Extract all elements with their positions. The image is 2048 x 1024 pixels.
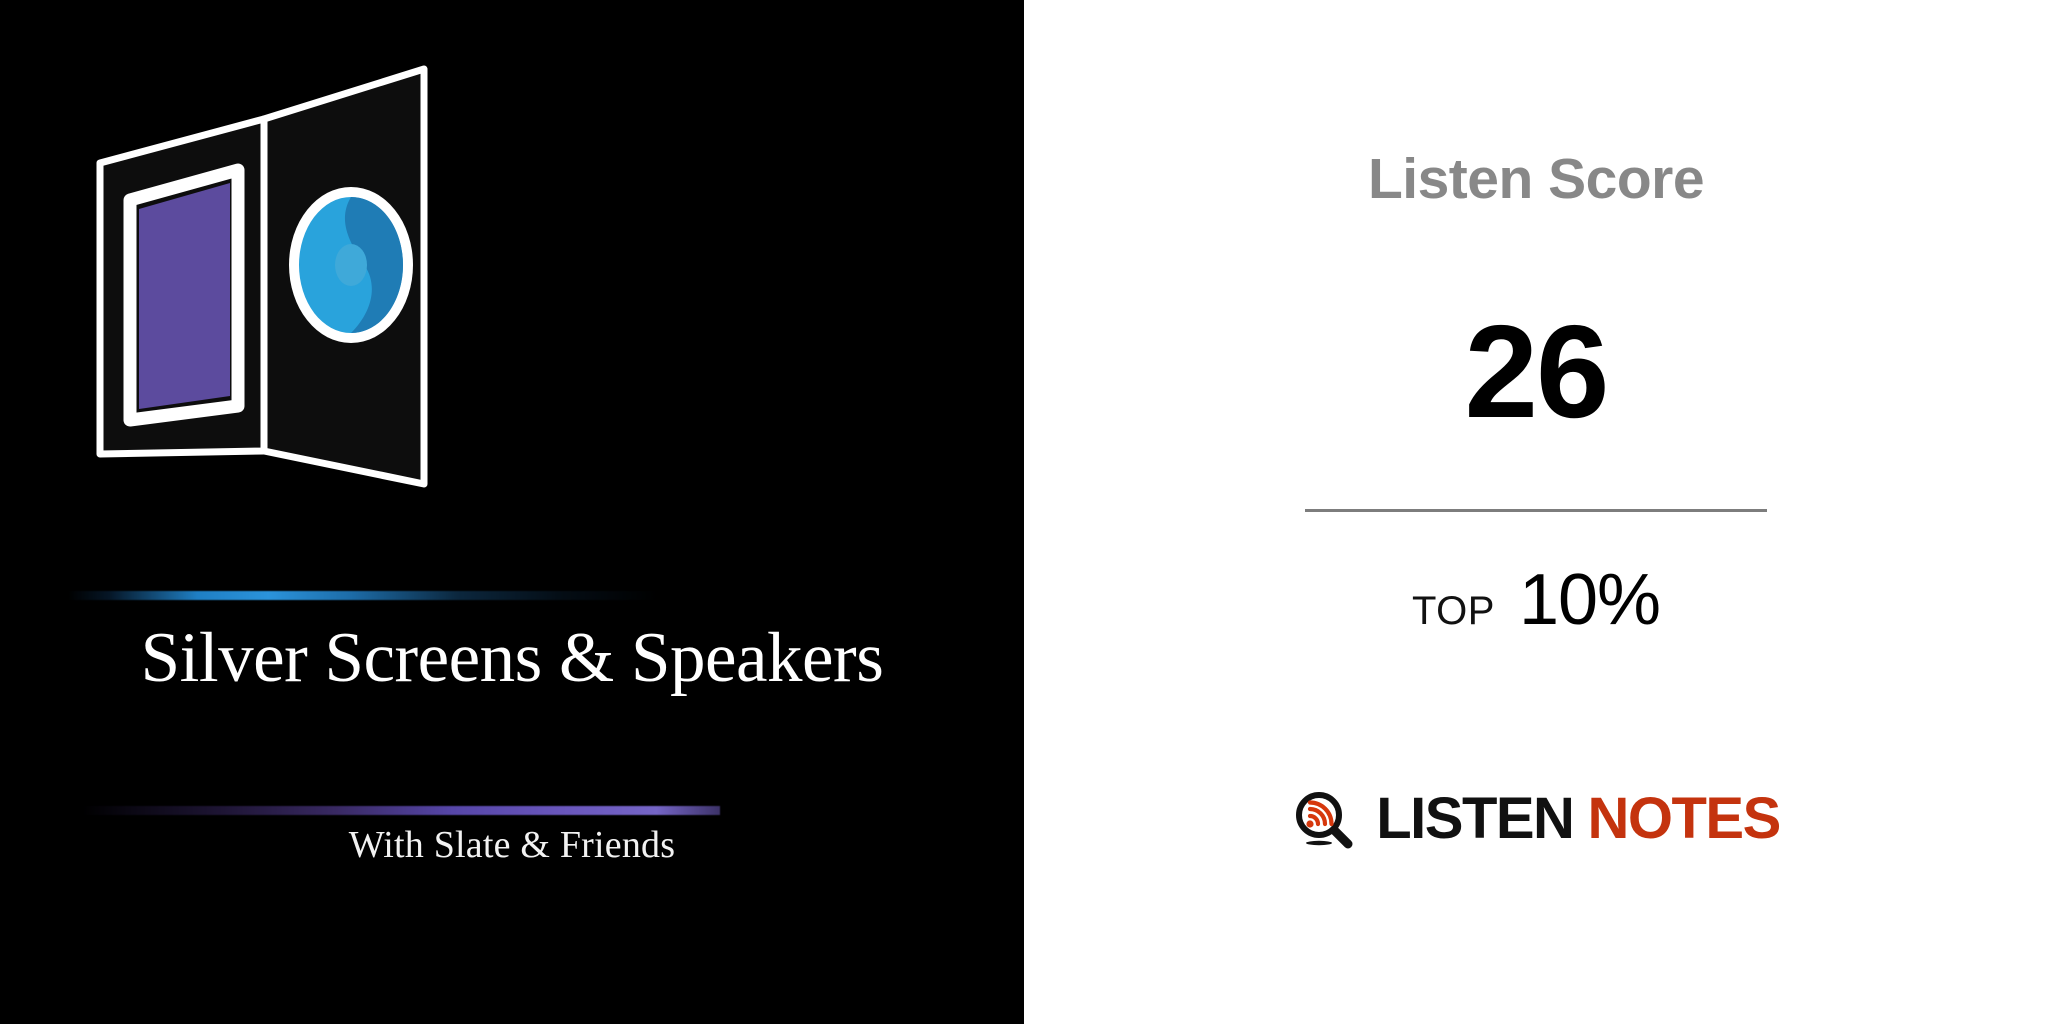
rank-percentile-value: 10%	[1519, 564, 1660, 636]
listen-notes-logo[interactable]: LISTENNOTES	[1024, 788, 2048, 850]
wordmark-listen: LISTEN	[1376, 786, 1573, 851]
listen-notes-wordmark: LISTENNOTES	[1376, 790, 1780, 848]
listen-notes-magnifier-rss-icon	[1292, 788, 1354, 850]
listen-score-card: Silver Screens & Speakers With Slate & F…	[0, 0, 2048, 1024]
rank-prefix-label: TOP	[1412, 591, 1495, 631]
listen-score-label: Listen Score	[1024, 148, 2048, 211]
accent-rule-purple	[82, 806, 720, 815]
podcast-cover-art: Silver Screens & Speakers With Slate & F…	[0, 0, 1024, 1024]
wordmark-notes: NOTES	[1587, 786, 1779, 851]
podcast-subtitle: With Slate & Friends	[0, 826, 1024, 864]
rank-row: TOP 10%	[1024, 564, 2048, 636]
listen-score-value: 26	[1024, 303, 2048, 442]
score-divider	[1305, 509, 1767, 512]
listen-score-panel: Listen Score 26 TOP 10%	[1024, 0, 2048, 1024]
retro-tv-speaker-box-illustration	[0, 50, 1024, 570]
podcast-title: Silver Screens & Speakers	[0, 623, 1024, 694]
accent-rule-blue	[68, 591, 658, 600]
